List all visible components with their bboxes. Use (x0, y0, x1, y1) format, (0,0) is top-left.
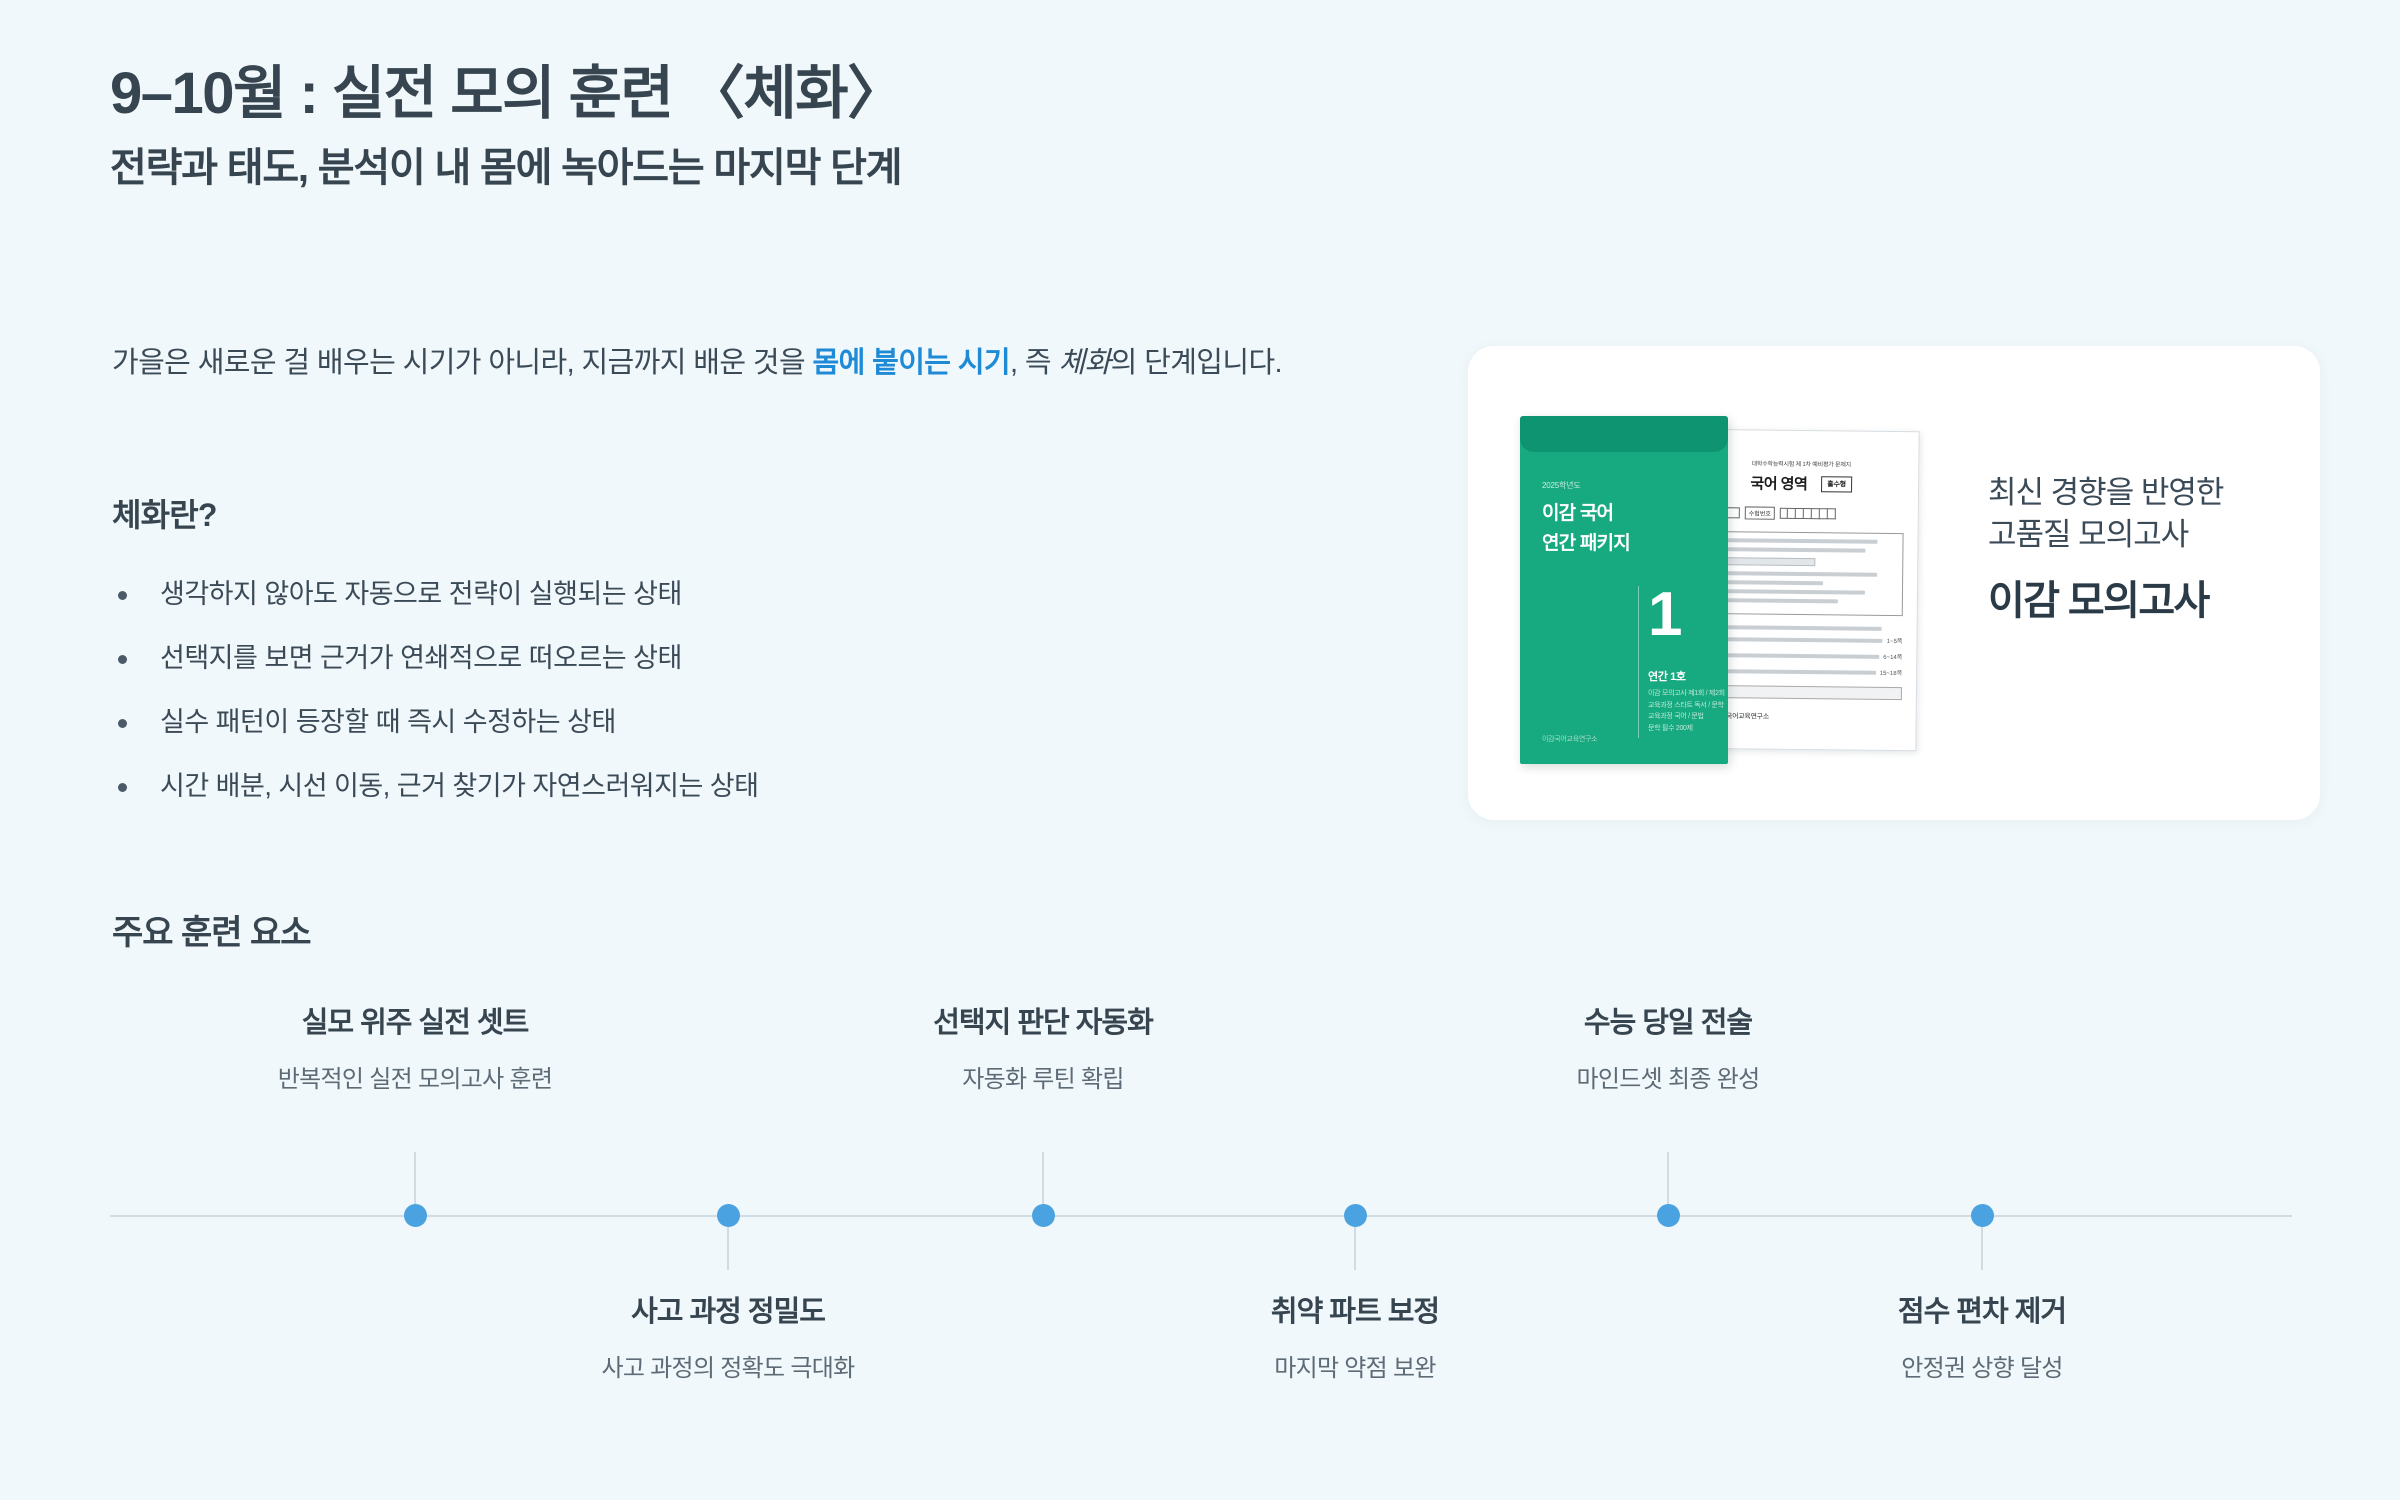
timeline-dot-icon[interactable] (717, 1204, 740, 1227)
envelope-detail-line: 이감 모의고사 제1회 / 제2회 (1648, 688, 1725, 700)
bullet-dot-icon (118, 655, 127, 664)
package-envelope-mock: 2025학년도 이감 국어 연간 패키지 1 연간 1호 이감 모의고사 제1회… (1520, 416, 1728, 764)
product-mockup: 대학수학능력시험 제 1차 예비평가 문제지 국어 영역 홀수형 수험번호 (1520, 416, 1980, 766)
bullet-dot-icon (118, 783, 127, 792)
grid-cell (1812, 508, 1820, 519)
product-tagline-line1: 최신 경향을 반영한 (1988, 472, 2288, 514)
timeline-dot-icon[interactable] (1971, 1204, 1994, 1227)
bullet-dot-icon (118, 719, 127, 728)
timeline-node-subtitle: 안정권 상향 달성 (1762, 1348, 2202, 1383)
bullet-label: 실수 패턴이 등장할 때 즉시 수정하는 상태 (160, 703, 616, 742)
index-page-range: 15~18쪽 (1880, 668, 1902, 677)
timeline-label-group: 수능 당일 전술마인드셋 최종 완성 (1448, 999, 1888, 1094)
text-line (1704, 589, 1865, 595)
page-subtitle: 전략과 태도, 분석이 내 몸에 녹아드는 마지막 단계 (110, 142, 1450, 194)
grid-cell (1780, 508, 1788, 519)
definition-bullet-list: 생각하지 않아도 자동으로 전략이 실행되는 상태 선택지를 보면 근거가 연쇄… (118, 575, 1318, 832)
timeline-node-title: 수능 당일 전술 (1448, 999, 1888, 1041)
exam-field-label: 수험번호 (1745, 506, 1775, 519)
grid-cell (1820, 508, 1828, 519)
product-tagline-line2: 고품질 모의고사 (1988, 514, 2288, 556)
timeline-dot-icon[interactable] (1032, 1204, 1055, 1227)
timeline-dot-icon[interactable] (1344, 1204, 1367, 1227)
timeline-label-group: 실모 위주 실전 셋트반복적인 실전 모의고사 훈련 (195, 999, 635, 1094)
lead-paragraph: 가을은 새로운 걸 배우는 시기가 아니라, 지금까지 배운 것을 몸에 붙이는… (112, 340, 1402, 387)
header-block: 9–10월 : 실전 모의 훈련 〈체화〉 전략과 태도, 분석이 내 몸에 녹… (110, 60, 1450, 194)
timeline-label-group: 점수 편차 제거안정권 상향 달성 (1762, 1288, 2202, 1383)
bullet-label: 생각하지 않아도 자동으로 전략이 실행되는 상태 (160, 575, 682, 614)
timeline: 실모 위주 실전 셋트반복적인 실전 모의고사 훈련사고 과정 정밀도사고 과정… (0, 1000, 2400, 1460)
lead-text-part3: 의 단계입니다. (1111, 347, 1282, 379)
envelope-flap (1520, 416, 1728, 452)
page-title: 9–10월 : 실전 모의 훈련 〈체화〉 (110, 60, 1450, 128)
envelope-title-line2: 연간 패키지 (1542, 528, 1630, 555)
timeline-node-title: 선택지 판단 자동화 (823, 999, 1263, 1041)
timeline-heading: 주요 훈련 요소 (112, 905, 311, 954)
timeline-stem (1667, 1152, 1669, 1208)
timeline-node-subtitle: 반복적인 실전 모의고사 훈련 (195, 1059, 635, 1094)
text-line (1704, 538, 1877, 544)
bullet-label: 시간 배분, 시선 이동, 근거 찾기가 자연스러워지는 상태 (160, 767, 759, 806)
timeline-node-title: 취약 파트 보정 (1135, 1288, 1575, 1330)
envelope-issue-label: 연간 1호 (1648, 668, 1686, 684)
timeline-axis (110, 1215, 2292, 1217)
envelope-details: 이감 모의고사 제1회 / 제2회교육과정 스타트 독서 / 문학교육과정 국어… (1648, 688, 1725, 734)
grid-cell (1828, 508, 1836, 519)
envelope-divider (1638, 586, 1639, 738)
list-item: 실수 패턴이 등장할 때 즉시 수정하는 상태 (118, 703, 1318, 742)
definition-subhead: 체화란? (112, 490, 217, 536)
list-item: 시간 배분, 시선 이동, 근거 찾기가 자연스러워지는 상태 (118, 767, 1318, 806)
index-page-range: 6~14쪽 (1883, 652, 1902, 661)
envelope-number: 1 (1648, 584, 1682, 646)
timeline-label-group: 선택지 판단 자동화자동화 루틴 확립 (823, 999, 1263, 1094)
exam-paper-header: 대학수학능력시험 제 1차 예비평가 문제지 (1698, 458, 1904, 469)
product-card: 대학수학능력시험 제 1차 예비평가 문제지 국어 영역 홀수형 수험번호 (1468, 346, 2320, 820)
timeline-label-group: 사고 과정 정밀도사고 과정의 정확도 극대화 (508, 1288, 948, 1383)
infographic-page: 9–10월 : 실전 모의 훈련 〈체화〉 전략과 태도, 분석이 내 몸에 녹… (0, 0, 2400, 1500)
envelope-title-line1: 이감 국어 (1542, 498, 1613, 525)
list-item: 선택지를 보면 근거가 연쇄적으로 떠오르는 상태 (118, 639, 1318, 678)
envelope-detail-line: 문학 필수 200제 (1648, 723, 1725, 735)
text-line (1704, 547, 1865, 553)
timeline-label-group: 취약 파트 보정마지막 약점 보완 (1135, 1288, 1575, 1383)
exam-paper-title-row: 국어 영역 홀수형 (1698, 472, 1904, 495)
index-page-range: 1~5쪽 (1887, 636, 1903, 645)
bullet-label: 선택지를 보면 근거가 연쇄적으로 떠오르는 상태 (160, 639, 682, 678)
timeline-node-subtitle: 사고 과정의 정확도 극대화 (508, 1348, 948, 1383)
timeline-stem (414, 1152, 416, 1208)
timeline-node-subtitle: 자동화 루틴 확립 (823, 1059, 1263, 1094)
timeline-node-subtitle: 마인드셋 최종 완성 (1448, 1059, 1888, 1094)
lead-text-part2: , 즉 (1010, 347, 1058, 379)
exam-paper-title: 국어 영역 (1750, 472, 1807, 494)
envelope-detail-line: 교육과정 스타트 독서 / 문학 (1648, 700, 1725, 712)
timeline-dot-icon[interactable] (1657, 1204, 1680, 1227)
timeline-node-title: 사고 과정 정밀도 (508, 1288, 948, 1330)
list-item: 생각하지 않아도 자동으로 전략이 실행되는 상태 (118, 575, 1318, 614)
grid-cell (1804, 508, 1812, 519)
lead-highlight: 몸에 붙이는 시기 (813, 347, 1010, 379)
exam-paper-fields: 수험번호 (1698, 506, 1904, 521)
lead-text-part1: 가을은 새로운 걸 배우는 시기가 아니라, 지금까지 배운 것을 (112, 347, 813, 379)
envelope-detail-line: 교육과정 국어 / 문법 (1648, 711, 1725, 723)
product-card-text: 최신 경향을 반영한 고품질 모의고사 이감 모의고사 (1988, 472, 2288, 626)
grid-cell (1788, 508, 1796, 519)
envelope-org: 이감국어교육연구소 (1542, 734, 1597, 744)
exam-paper-type-badge: 홀수형 (1821, 476, 1852, 492)
timeline-stem (1042, 1152, 1044, 1208)
grid-cell (1796, 508, 1804, 519)
lead-italic-term: 체화 (1058, 347, 1110, 379)
bullet-dot-icon (118, 591, 127, 600)
text-line (1704, 571, 1877, 577)
timeline-node-subtitle: 마지막 약점 보완 (1135, 1348, 1575, 1383)
exam-number-grid (1780, 508, 1836, 520)
timeline-dot-icon[interactable] (404, 1204, 427, 1227)
envelope-year: 2025학년도 (1542, 480, 1580, 491)
timeline-node-title: 실모 위주 실전 셋트 (195, 999, 635, 1041)
product-brand-name: 이감 모의고사 (1988, 568, 2288, 626)
timeline-node-title: 점수 편차 제거 (1762, 1288, 2202, 1330)
